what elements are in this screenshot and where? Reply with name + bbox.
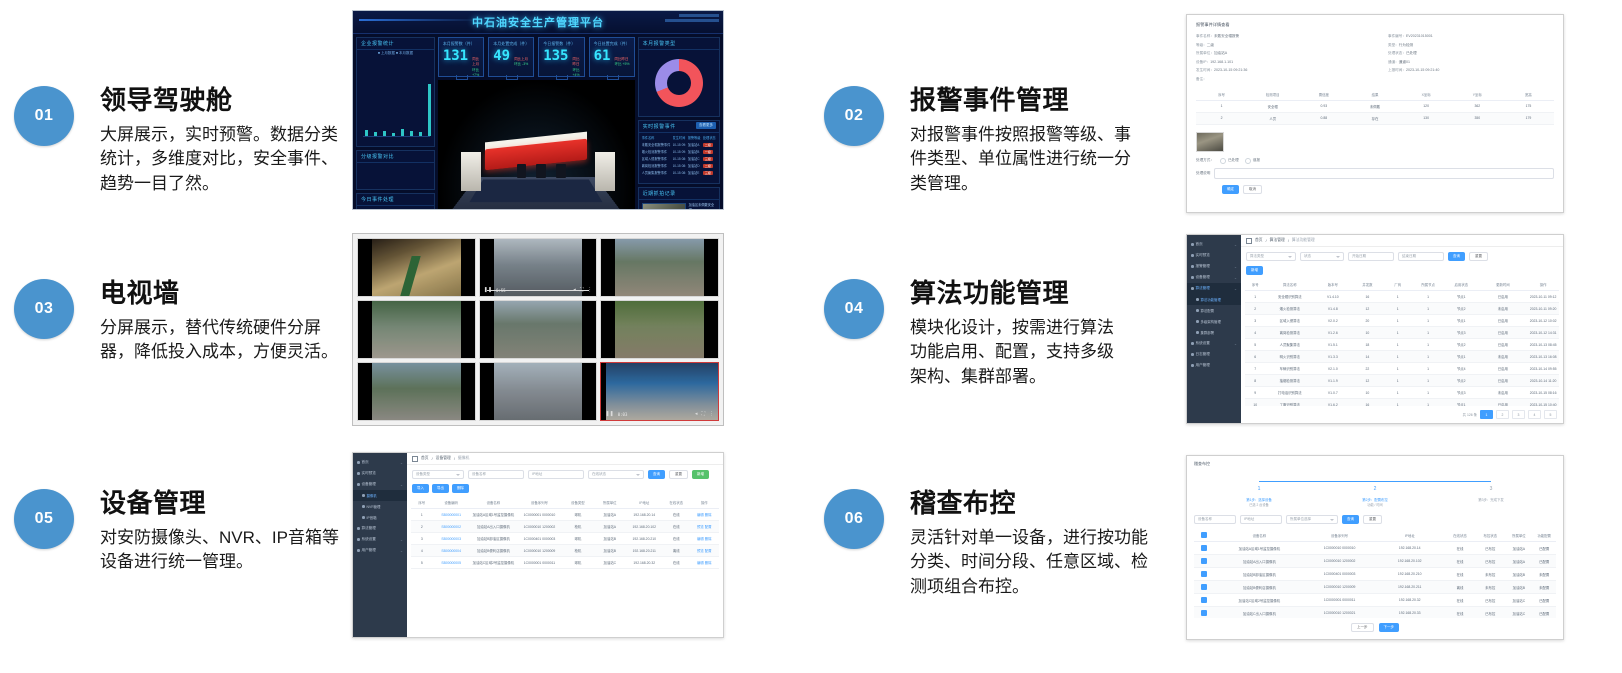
video-tile[interactable] bbox=[600, 238, 719, 297]
checkbox-icon[interactable] bbox=[1201, 597, 1207, 603]
chevron-down-icon: ⌄ bbox=[1234, 243, 1237, 247]
sidebar-item-ipspeaker[interactable]: IP音箱 bbox=[353, 512, 407, 523]
video-feed bbox=[372, 363, 461, 420]
cell-operations[interactable]: 预览 配置 bbox=[690, 545, 719, 557]
kpi-delta-value: 环比 +7% bbox=[472, 68, 479, 79]
checkbox-icon[interactable] bbox=[1201, 558, 1207, 564]
cell: 2023-10-12 14:31 bbox=[1527, 327, 1559, 339]
op-preview[interactable]: 预览 bbox=[697, 549, 704, 553]
video-tile[interactable] bbox=[600, 300, 719, 359]
cell: 区域入侵算法 bbox=[1265, 315, 1314, 327]
table-header[interactable]: IP地址 bbox=[1375, 529, 1445, 542]
table-header[interactable]: 所属节点 bbox=[1412, 279, 1444, 291]
table-row[interactable]: 1安全帽识别算法V1.4.101611节点1已启用2023-10-11 09:1… bbox=[1245, 291, 1559, 303]
kpi-delta-label: 同比昨日 bbox=[573, 57, 580, 68]
cell: V1.2.6 bbox=[1314, 327, 1351, 339]
cell-serial: 1C0000001 0000010 bbox=[517, 509, 562, 521]
cell: 3 bbox=[1245, 315, 1265, 327]
cell: 节点3 bbox=[1444, 327, 1479, 339]
fullscreen-icon[interactable]: ⛶ bbox=[701, 411, 705, 417]
table-row[interactable]: 4离岗检测算法V1.2.61011节点3已启用2023-10-12 14:31 bbox=[1245, 327, 1559, 339]
screenshot-inspection-deployment[interactable]: 稽查布控 1 第1步：选择设备 已选 2 台设备 2 第2步：配置布控 功能 /… bbox=[1186, 455, 1564, 640]
table-header-row: 序号 算法名称 版本号 并发数 厂商 所属节点 启用状态 更新时间 操作 bbox=[1245, 279, 1559, 291]
cell: 存在 bbox=[1349, 112, 1400, 124]
detail-field: 事件名称：未戴安全帽报警 bbox=[1196, 34, 1362, 39]
op-delete[interactable]: 删除 bbox=[705, 513, 712, 517]
remark-input[interactable] bbox=[1214, 168, 1554, 179]
pagination[interactable]: 共 126 条 1 2 3 4 5 bbox=[1241, 406, 1563, 423]
screenshot-alarm-detail[interactable]: 报警事件详情查看 事件名称：未戴安全帽报警 事件编号：EV20231015001… bbox=[1186, 14, 1564, 213]
handling-radio-group[interactable]: 处理方式： 已处理 误报 bbox=[1196, 158, 1554, 164]
start-date-input[interactable]: 开始日期 bbox=[1348, 252, 1394, 261]
import-button[interactable]: 导入 bbox=[412, 484, 429, 493]
cell: 18 bbox=[1352, 339, 1384, 351]
chart-bar bbox=[374, 132, 377, 136]
kpi-row: 本月报警数（件） 131 同比上月 环比 +7% 本月处置完成（件） 49 bbox=[438, 37, 635, 77]
table-header-checkbox[interactable] bbox=[1194, 529, 1214, 542]
table-header[interactable]: 序号 bbox=[1245, 279, 1265, 291]
cell: 节点2 bbox=[1444, 303, 1479, 315]
table-row[interactable]: 8抽烟检测算法V1.1.91211节点2已启用2023-10-14 11:20 bbox=[1245, 375, 1559, 387]
cell: 1 bbox=[1412, 339, 1444, 351]
feature-number-03: 03 bbox=[35, 300, 54, 318]
alarm-list-row[interactable]: 人员聚集报警事件 10-15 08:22 加油站E 三级 bbox=[642, 170, 716, 175]
sidebar-item-alarm[interactable]: 报警管理⌄ bbox=[1187, 261, 1241, 272]
algorithm-type-select[interactable]: 算法类型 bbox=[1246, 252, 1296, 261]
table-header[interactable]: 在线状态 bbox=[663, 497, 690, 509]
sidebar-item-users[interactable]: 用户管理 bbox=[1187, 360, 1241, 371]
select-value: 状态 bbox=[1304, 254, 1311, 259]
table-row[interactable]: 9打电话识别算法V1.0.71011节点3未启用2023-10-15 08:16 bbox=[1245, 387, 1559, 399]
online-status-select[interactable]: 在线状态 bbox=[588, 470, 644, 479]
table-header[interactable]: 在线状态 bbox=[1445, 529, 1475, 542]
cell-serial: 1C0000401 0000003 bbox=[517, 533, 562, 545]
alarm-level-tag: 二级 bbox=[703, 143, 713, 147]
checkbox-icon[interactable] bbox=[1201, 532, 1207, 538]
field-key: 备注： bbox=[1196, 77, 1207, 81]
screenshot-video-wall[interactable]: ❚❚ 0:55 ◂ ⛶ ⋮ ❚❚ 0:03 bbox=[352, 233, 724, 426]
sidebar-item-multi-level[interactable]: 多级架构管理 bbox=[1187, 316, 1241, 327]
kpi-value: 61 bbox=[594, 49, 611, 63]
alarm-unit: 加油站A bbox=[688, 142, 701, 147]
pause-icon[interactable]: ❚❚ bbox=[605, 411, 613, 417]
breadcrumb-current: 摄像机 bbox=[458, 456, 469, 461]
checkbox-icon[interactable] bbox=[1201, 571, 1207, 577]
sidebar-label: 算法配置 bbox=[1201, 308, 1215, 313]
op-edit[interactable]: 编辑 bbox=[697, 513, 704, 517]
cell-operations[interactable]: 编辑 删除 bbox=[690, 557, 719, 569]
panel-recent-capture: 近期抓拍记录 加油区未佩戴安全帽 检测时间 10-15 09:21 所属单位 加… bbox=[638, 187, 720, 210]
field-key: 所属单位： bbox=[1196, 51, 1214, 55]
panel-alarm-type-donut: 本月报警类型 bbox=[638, 37, 720, 117]
op-edit[interactable]: 编辑 bbox=[697, 537, 704, 541]
op-edit[interactable]: 编辑 bbox=[697, 561, 704, 565]
cell: 未配置 bbox=[1532, 581, 1556, 594]
table-header[interactable]: 更新时间 bbox=[1479, 279, 1528, 291]
cell-ip: 192.168.20.210 bbox=[626, 533, 663, 545]
video-controls[interactable]: ❚❚ 0:03 ◂ ⛶ ⋮ bbox=[601, 409, 718, 420]
prev-step-button[interactable]: 上一步 bbox=[1351, 623, 1374, 632]
cell: 节点1 bbox=[1444, 315, 1479, 327]
radio-label: 已处理 bbox=[1228, 158, 1239, 163]
cell: 2023-10-12 10:02 bbox=[1527, 315, 1559, 327]
alarm-list-row[interactable]: 未戴安全帽报警事件 10-15 09:21 加油站A 二级 bbox=[642, 142, 716, 147]
table-row[interactable]: 加油站A出入口摄像机1C0000010 1200002192.168.20.10… bbox=[1194, 555, 1556, 568]
alarm-unit: 加油站C bbox=[688, 156, 701, 161]
inspection-table-wrap: 设备名称 设备序列号 IP地址 在线状态 布控状态 所属单位 功能配置 加油站A… bbox=[1187, 529, 1563, 618]
breadcrumb-item[interactable]: 算法管理 bbox=[1270, 238, 1285, 243]
screenshot-dashboard[interactable]: 中石油安全生产管理平台 企业报警统计 ■ 上月数据 ■ 本月数据 bbox=[352, 10, 724, 210]
search-button[interactable]: 查询 bbox=[1448, 252, 1465, 261]
detail-field: 事件编号：EV20231015001 bbox=[1388, 34, 1554, 39]
table-row[interactable]: 2烟火检测算法V1.4.81211节点2未启用2023-10-11 09:20 bbox=[1245, 303, 1559, 315]
cell-name: 加油站A出入口摄像机 bbox=[470, 521, 517, 533]
table-row[interactable]: 加油站B卸油区摄像机1C0000401 0000003192.168.20.21… bbox=[1194, 568, 1556, 581]
cell-code[interactable]: SB00000002 bbox=[433, 521, 470, 533]
video-tile[interactable] bbox=[357, 362, 476, 421]
cell-serial: 1C0000010 1200009 bbox=[517, 545, 562, 557]
cell: 20 bbox=[1352, 315, 1384, 327]
table-header[interactable]: 设备序列号 bbox=[1304, 529, 1374, 542]
op-delete[interactable]: 删除 bbox=[705, 537, 712, 541]
end-date-input[interactable]: 结束日期 bbox=[1398, 252, 1444, 261]
cell: 1C0000010 0000010 bbox=[1304, 542, 1374, 555]
sidebar-item-log[interactable]: 日志管理 bbox=[1187, 349, 1241, 360]
sidebar-item-algorithm[interactable]: 算法管理 bbox=[353, 523, 407, 534]
video-tile[interactable] bbox=[357, 238, 476, 297]
cell: 1 bbox=[1383, 303, 1412, 315]
kpi-delta: 同比昨日 环比 +4% bbox=[573, 57, 580, 78]
cell: 192.168.20.102 bbox=[1375, 555, 1445, 568]
table-row[interactable]: 10工服识别算法V1.6.21611节点1已启用2023-10-15 10:40 bbox=[1245, 399, 1559, 407]
page-button[interactable]: 3 bbox=[1512, 410, 1525, 419]
sidebar-item-settings[interactable]: 系统设置⌄ bbox=[353, 534, 407, 545]
cell: 未佩戴 bbox=[1349, 100, 1400, 112]
device-name-input[interactable]: 设备名称 bbox=[1194, 515, 1236, 524]
cell-status: 在线 bbox=[663, 533, 690, 545]
cell-ip: 192.168.20.211 bbox=[626, 545, 663, 557]
more-icon[interactable]: ⋮ bbox=[709, 411, 714, 417]
video-tile[interactable] bbox=[479, 300, 598, 359]
sidebar-label: 多级架构管理 bbox=[1201, 319, 1221, 324]
detail-field: 类型：行为检测 bbox=[1388, 43, 1554, 48]
op-preview[interactable]: 预览 bbox=[697, 525, 704, 529]
radio-false-alarm[interactable]: 误报 bbox=[1245, 158, 1260, 164]
table-row[interactable]: 3 SB00000003 加油站B卸油区摄像机 1C0000401 000000… bbox=[411, 533, 719, 545]
video-tile[interactable] bbox=[357, 300, 476, 359]
checkbox-icon[interactable] bbox=[1201, 610, 1207, 616]
field-value: 通道01 bbox=[1399, 60, 1410, 64]
cell: 1C0000001 0000011 bbox=[1304, 594, 1374, 607]
alarm-list-row[interactable]: 离岗检测报警事件 10-15 08:40 加油站D 二级 bbox=[642, 163, 716, 168]
cell-type: 球机 bbox=[562, 509, 594, 521]
reset-button[interactable]: 重置 bbox=[1469, 252, 1488, 261]
video-tile-selected[interactable]: ❚❚ 0:03 ◂ ⛶ ⋮ bbox=[600, 362, 719, 421]
unit-select[interactable]: 所属单位选择 bbox=[1286, 515, 1338, 524]
table-row[interactable]: 4 SB00000004 加油站B便利店摄像机 1C0000010 120000… bbox=[411, 545, 719, 557]
page-button[interactable]: 4 bbox=[1528, 410, 1541, 419]
cell: 350 bbox=[1452, 112, 1503, 124]
table-header[interactable]: X坐标 bbox=[1401, 89, 1452, 101]
cell: 1C0000401 0000003 bbox=[1304, 568, 1374, 581]
sidebar-label: 设备管理 bbox=[1196, 275, 1210, 280]
dashboard-right-column: 本月报警类型 实时报警事件 查看更多 事件名称 发生时间 报警等级 处理状态 bbox=[638, 37, 720, 210]
cell-serial: 1C0000010 1200002 bbox=[517, 521, 562, 533]
cell: 0.88 bbox=[1298, 112, 1349, 124]
step-marker: 2 bbox=[1371, 485, 1380, 494]
breadcrumb-item[interactable]: 首页 bbox=[421, 456, 429, 461]
table-header[interactable]: 厂商 bbox=[1383, 279, 1412, 291]
radio-icon bbox=[1245, 158, 1251, 164]
table-row[interactable]: 1 SB00000001 加油站A区域1号监控摄像机 1C0000001 000… bbox=[411, 509, 719, 521]
cell: 工服识别算法 bbox=[1265, 399, 1314, 407]
device-type-select[interactable]: 设备类型 bbox=[412, 470, 464, 479]
cancel-button[interactable]: 取消 bbox=[1243, 185, 1262, 194]
field-key: 类型： bbox=[1388, 43, 1399, 47]
step-select-device[interactable]: 1 第1步：选择设备 已选 2 台设备 bbox=[1201, 477, 1317, 507]
feature-badge-01: 01 bbox=[14, 86, 74, 146]
page-button[interactable]: 1 bbox=[1480, 410, 1493, 419]
next-step-button[interactable]: 下一步 bbox=[1379, 623, 1400, 632]
op-delete[interactable]: 删除 bbox=[705, 561, 712, 565]
page-button[interactable]: 2 bbox=[1496, 410, 1509, 419]
table-header[interactable]: 功能配置 bbox=[1532, 529, 1556, 542]
sidebar-label: 系统设置 bbox=[1196, 341, 1210, 346]
sidebar-item-camera[interactable]: 摄像机 bbox=[353, 490, 407, 501]
table-header[interactable]: 设备名称 bbox=[1214, 529, 1304, 542]
alarm-list-row[interactable]: 区域入侵报警事件 10-15 08:55 加油站C 三级 bbox=[642, 156, 716, 161]
table-header[interactable]: 设备类型 bbox=[562, 497, 594, 509]
table-header[interactable]: 并发数 bbox=[1352, 279, 1384, 291]
sidebar-item-cluster[interactable]: 集群部署 bbox=[1187, 327, 1241, 338]
slide-root: 01 领导驾驶舱 大屏展示，实时预警。数据分类统计，多维度对比，安全事件、趋势一… bbox=[0, 0, 1622, 673]
add-button[interactable]: 新增 bbox=[692, 470, 709, 479]
sidebar-item-home[interactable]: 首页⌄ bbox=[353, 457, 407, 468]
breadcrumb-item[interactable]: 首页 bbox=[1255, 238, 1263, 243]
table-header[interactable]: 启用状态 bbox=[1444, 279, 1479, 291]
radio-handled[interactable]: 已处理 bbox=[1220, 158, 1239, 164]
add-button[interactable]: 新增 bbox=[1246, 266, 1263, 275]
table-row[interactable]: 7车辆识别算法V2.1.02211节点4已启用2023-10-14 09:55 bbox=[1245, 363, 1559, 375]
device-sidebar[interactable]: 首页⌄ 实时预览 设备管理⌄ 摄像机 NVR管理 IP音箱 算法管理 系统设置⌄… bbox=[353, 453, 407, 637]
cell-name: 加油站B便利店摄像机 bbox=[470, 545, 517, 557]
volume-icon[interactable]: ◂ bbox=[695, 411, 698, 417]
sidebar-label: 用户管理 bbox=[1196, 363, 1210, 368]
cell: 节点4 bbox=[1444, 363, 1479, 375]
donut-chart bbox=[655, 59, 703, 107]
checkbox-icon[interactable] bbox=[1201, 584, 1207, 590]
alarm-list-row[interactable]: 烟火检测报警事件 10-15 09:07 加油站B 一级 bbox=[642, 149, 716, 154]
cell: 加油站C bbox=[1505, 607, 1532, 619]
breadcrumb-item[interactable]: 设备管理 bbox=[436, 456, 451, 461]
detail-field-grid: 事件名称：未戴安全帽报警 事件编号：EV20231015001 等级：二级 类型… bbox=[1196, 34, 1554, 82]
capture-info: 加油区未佩戴安全帽 检测时间 10-15 09:21 所属单位 加油站A 查看详… bbox=[689, 203, 716, 210]
sidebar-item-device[interactable]: 设备管理⌄ bbox=[1187, 272, 1241, 283]
scene-3d-viewport[interactable]: 场景监控统计 加油站区域 — 实时监控 人员行为识别 烟火检测 — 智能分析预警… bbox=[438, 80, 635, 210]
table-header[interactable]: 设备序列号 bbox=[517, 497, 562, 509]
sidebar-item-live[interactable]: 实时预览 bbox=[353, 468, 407, 479]
sidebar-item-device[interactable]: 设备管理⌄ bbox=[353, 479, 407, 490]
table-header[interactable]: 布控状态 bbox=[1475, 529, 1505, 542]
cell-code[interactable]: SB00000004 bbox=[433, 545, 470, 557]
capture-thumbnail[interactable] bbox=[642, 203, 686, 210]
search-button[interactable]: 查询 bbox=[648, 470, 665, 479]
table-header[interactable]: 所属单位 bbox=[1505, 529, 1532, 542]
alarm-snapshot-image[interactable] bbox=[1196, 132, 1224, 152]
screenshot-device-management[interactable]: 首页⌄ 实时预览 设备管理⌄ 摄像机 NVR管理 IP音箱 算法管理 系统设置⌄… bbox=[352, 452, 724, 638]
cell: 加油站C出入口摄像机 bbox=[1214, 607, 1304, 619]
op-config[interactable]: 配置 bbox=[705, 525, 712, 529]
feature-text-05: 设备管理 对安防摄像头、NVR、IP音箱等设备进行统一管理。 bbox=[100, 489, 350, 575]
cell-serial: 1C0000001 0000011 bbox=[517, 557, 562, 569]
feature-text-01: 领导驾驶舱 大屏展示，实时预警。数据分类统计，多维度对比，安全事件、趋势一目了然… bbox=[100, 86, 352, 197]
table-header[interactable]: 置信度 bbox=[1298, 89, 1349, 101]
sidebar-item-algo-config[interactable]: 算法配置 bbox=[1187, 305, 1241, 316]
submit-button[interactable]: 确定 bbox=[1222, 185, 1239, 194]
cell-operations[interactable]: 编辑 删除 bbox=[690, 509, 719, 521]
device-ip-input[interactable]: IP地址 bbox=[528, 470, 584, 479]
sidebar-item-home[interactable]: 首页⌄ bbox=[1187, 239, 1241, 250]
cell-code[interactable]: SB00000001 bbox=[433, 509, 470, 521]
video-feed bbox=[615, 301, 704, 358]
search-button[interactable]: 查询 bbox=[1342, 515, 1359, 524]
video-tile[interactable]: ❚❚ 0:55 ◂ ⛶ ⋮ bbox=[479, 238, 598, 297]
table-header[interactable]: 结果 bbox=[1349, 89, 1400, 101]
view-more-button[interactable]: 查看更多 bbox=[696, 122, 716, 129]
sidebar-label: 算法管理 bbox=[362, 526, 376, 531]
detail-field: 处理状态：已处理 bbox=[1388, 51, 1554, 56]
cell: 加油站B卸油区摄像机 bbox=[1214, 568, 1304, 581]
cell: 车辆识别算法 bbox=[1265, 363, 1314, 375]
reset-button[interactable]: 重置 bbox=[669, 470, 688, 479]
table-header[interactable]: 算法名称 bbox=[1265, 279, 1314, 291]
chevron-down-icon: ⌄ bbox=[1234, 287, 1237, 291]
cell: 130 bbox=[1401, 112, 1452, 124]
field-key: 通道： bbox=[1388, 60, 1399, 64]
select-value: 在线状态 bbox=[592, 472, 606, 477]
sidebar-item-algo-function[interactable]: 算法功能管理 bbox=[1187, 294, 1241, 305]
panel-today-events: 今日事件处理 报警类型 上月数量 本月数量 烟火 28 43 bbox=[356, 193, 435, 210]
cell: 已启用 bbox=[1479, 399, 1528, 407]
table-row[interactable]: 加油站C出入口摄像机1C0000010 1200021192.168.20.33… bbox=[1194, 607, 1556, 619]
feature-block-03: 03 电视墙 分屏展示，替代传统硬件分屏器，降低投入成本，方便灵活。 bbox=[14, 279, 352, 365]
op-config[interactable]: 配置 bbox=[705, 549, 712, 553]
table-row[interactable]: 加油站B便利店摄像机1C0000010 1200009192.168.20.21… bbox=[1194, 581, 1556, 594]
algorithm-sidebar[interactable]: 首页⌄ 实时预览 报警管理⌄ 设备管理⌄ 算法管理⌄ 算法功能管理 算法配置 多… bbox=[1187, 235, 1241, 423]
cell: 加油站A出入口摄像机 bbox=[1214, 555, 1304, 568]
scene-fuel-pump bbox=[517, 164, 527, 178]
feature-badge-06: 06 bbox=[824, 489, 884, 549]
screenshot-algorithm-management[interactable]: 首页⌄ 实时预览 报警管理⌄ 设备管理⌄ 算法管理⌄ 算法功能管理 算法配置 多… bbox=[1186, 234, 1564, 424]
feature-block-06: 06 稽查布控 灵活针对单一设备，进行按功能分类、时间分段、任意区域、检测项组合… bbox=[824, 489, 1148, 600]
table-header[interactable]: 设备编码 bbox=[433, 497, 470, 509]
kpi-value: 131 bbox=[443, 49, 468, 63]
cell-operations[interactable]: 编辑 删除 bbox=[690, 533, 719, 545]
reset-button[interactable]: 重置 bbox=[1363, 515, 1382, 524]
cell: 已启用 bbox=[1479, 363, 1528, 375]
table-header[interactable]: 序号 bbox=[411, 497, 433, 509]
feature-text-03: 电视墙 分屏展示，替代传统硬件分屏器，降低投入成本，方便灵活。 bbox=[100, 279, 352, 365]
video-tile[interactable] bbox=[479, 362, 598, 421]
device-name-input[interactable]: 设备名称 bbox=[468, 470, 524, 479]
cell-index: 4 bbox=[411, 545, 433, 557]
ip-input[interactable]: IP地址 bbox=[1240, 515, 1282, 524]
scene-fuel-pump bbox=[556, 164, 566, 178]
input-placeholder: IP地址 bbox=[532, 472, 542, 477]
cell: 192.168.20.33 bbox=[1375, 607, 1445, 619]
step-finish[interactable]: 3 第3步：完成下发 bbox=[1433, 477, 1549, 502]
table-row[interactable]: 2 SB00000002 加油站A出入口摄像机 1C0000010 120000… bbox=[411, 521, 719, 533]
table-header[interactable]: 宽高 bbox=[1503, 89, 1554, 101]
cell: 1C0000010 1200009 bbox=[1304, 581, 1374, 594]
sidebar-item-nvr[interactable]: NVR管理 bbox=[353, 501, 407, 512]
cell-code[interactable]: SB00000003 bbox=[433, 533, 470, 545]
table-header[interactable]: 序号 bbox=[1196, 89, 1247, 101]
export-button[interactable]: 导出 bbox=[432, 484, 449, 493]
cell-status: 在线 bbox=[663, 509, 690, 521]
table-header-row: 设备名称 设备序列号 IP地址 在线状态 布控状态 所属单位 功能配置 bbox=[1194, 529, 1556, 542]
sidebar-item-live[interactable]: 实时预览 bbox=[1187, 250, 1241, 261]
table-row[interactable]: 加油站C区域2号监控摄像机1C0000001 0000011192.168.20… bbox=[1194, 594, 1556, 607]
table-header[interactable]: 检测项目 bbox=[1247, 89, 1298, 101]
sidebar-item-algorithm[interactable]: 算法管理⌄ bbox=[1187, 283, 1241, 294]
step-configure[interactable]: 2 第2步：配置布控 功能 / 时间 bbox=[1317, 477, 1433, 507]
scene-building-left bbox=[461, 152, 481, 191]
algorithm-main: 首页/ 算法管理/ 算法功能管理 算法类型 状态 开始日期 结束日期 查询 重置… bbox=[1241, 235, 1563, 423]
table-header[interactable]: 设备名称 bbox=[470, 497, 517, 509]
table-row[interactable]: 5 SB00000005 加油站C区域2号监控摄像机 1C0000001 000… bbox=[411, 557, 719, 569]
field-key: 设备IP： bbox=[1196, 60, 1210, 64]
breadcrumb: 首页/ 算法管理/ 算法功能管理 bbox=[1241, 235, 1563, 247]
table-header[interactable]: 版本号 bbox=[1314, 279, 1351, 291]
field-key: 发生时间： bbox=[1196, 68, 1214, 72]
sidebar-label: 算法管理 bbox=[1196, 286, 1210, 291]
status-select[interactable]: 状态 bbox=[1300, 252, 1344, 261]
cell: 节点1 bbox=[1444, 291, 1479, 303]
table-row[interactable]: 3区域入侵算法V2.0.22011节点1已启用2023-10-12 10:02 bbox=[1245, 315, 1559, 327]
table-header[interactable]: 所属单位 bbox=[594, 497, 626, 509]
feature-badge-04: 04 bbox=[824, 279, 884, 339]
table-header[interactable]: IP地址 bbox=[626, 497, 663, 509]
table-row[interactable]: 加油站A区域1号监控摄像机1C0000010 0000010192.168.20… bbox=[1194, 542, 1556, 555]
feature-block-04: 04 算法功能管理 模块化设计，按需进行算法功能启用、配置，支持多级架构、集群部… bbox=[824, 279, 1128, 390]
field-value: 加油站A bbox=[1214, 51, 1227, 55]
page-button[interactable]: 5 bbox=[1544, 410, 1557, 419]
table-row[interactable]: 5人员聚集算法V1.5.11811节点2已启用2023-10-13 08:45 bbox=[1245, 339, 1559, 351]
sidebar-item-users[interactable]: 用户管理⌄ bbox=[353, 545, 407, 556]
table-row[interactable]: 6明火识别算法V1.3.31411节点1未启用2023-10-13 16:08 bbox=[1245, 351, 1559, 363]
detail-field: 通道：通道01 bbox=[1388, 60, 1554, 65]
video-progress-bar[interactable] bbox=[487, 290, 590, 292]
cell: 已启用 bbox=[1479, 339, 1528, 351]
cell-index: 2 bbox=[411, 521, 433, 533]
panel-title: 分级报警对比 bbox=[357, 151, 434, 163]
sidebar-item-settings[interactable]: 系统设置⌄ bbox=[1187, 338, 1241, 349]
cell-ip: 192.168.20.14 bbox=[626, 509, 663, 521]
cell-code[interactable]: SB00000005 bbox=[433, 557, 470, 569]
table-header[interactable]: Y坐标 bbox=[1452, 89, 1503, 101]
chevron-down-icon: ⌄ bbox=[400, 538, 403, 542]
kpi-delta: 同比昨日 环比 +5% bbox=[614, 57, 629, 68]
alarm-unit: 加油站D bbox=[688, 163, 701, 168]
checkbox-icon[interactable] bbox=[1201, 545, 1207, 551]
cell-operations[interactable]: 预览 配置 bbox=[690, 521, 719, 533]
cell: 0.93 bbox=[1298, 100, 1349, 112]
cell: 安全帽 bbox=[1247, 100, 1298, 112]
feature-text-04: 算法功能管理 模块化设计，按需进行算法功能启用、配置，支持多级架构、集群部署。 bbox=[910, 279, 1128, 390]
cell: 192.168.20.210 bbox=[1375, 568, 1445, 581]
delete-button[interactable]: 删除 bbox=[452, 484, 469, 493]
